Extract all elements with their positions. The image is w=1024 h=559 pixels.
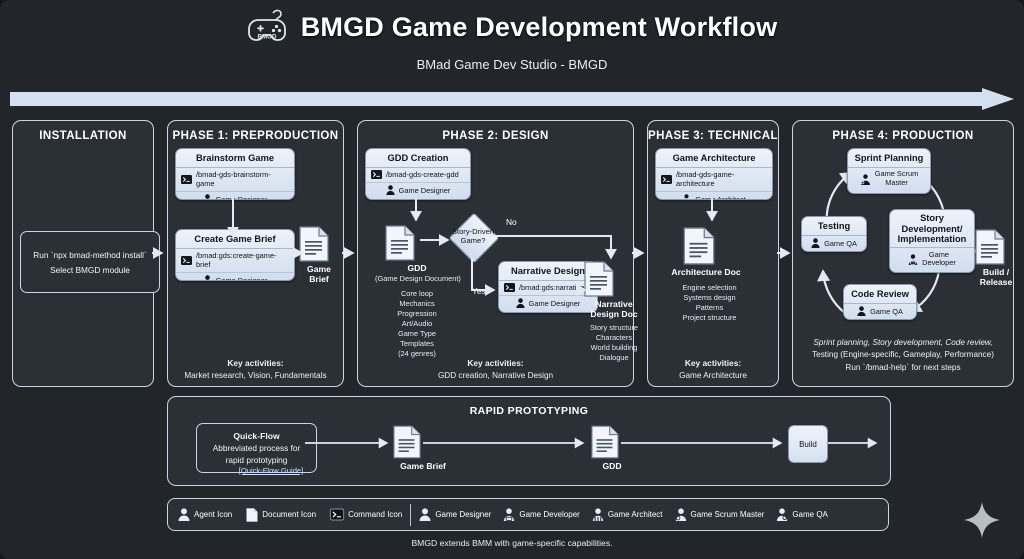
doc-game-brief: Game Brief [299, 226, 339, 285]
legend-divider [410, 504, 411, 526]
quick-flow-title: Quick-Flow [233, 431, 279, 441]
doc-narrative-design: Narrative Design Doc Story structure Cha… [584, 261, 644, 363]
agent-name-line1: Game [929, 250, 949, 259]
agent-icon [203, 275, 212, 281]
rapid-doc-gdd: GDD [591, 425, 633, 471]
card-title: Sprint Planning [848, 149, 930, 168]
command-icon [181, 256, 192, 265]
doc-label-line2: Brief [299, 274, 339, 284]
card-title: Testing [802, 217, 866, 236]
legend-agent-icon-item: Agent Icon [178, 508, 232, 521]
document-icon [584, 261, 644, 297]
agent-name: Game Architect [695, 195, 746, 200]
document-icon [975, 229, 1017, 265]
doc-label: Architecture Doc [669, 267, 743, 277]
game-developer-icon [908, 254, 918, 265]
command-icon [371, 170, 382, 179]
installation-panel: INSTALLATION Run `npx bmad-method instal… [12, 120, 154, 387]
command-text: /bmad:gds:narrative [519, 283, 584, 292]
document-icon [246, 508, 258, 522]
decision-label: Story-Driven Game? [441, 227, 505, 245]
command-icon [181, 175, 192, 184]
game-architect-icon [682, 194, 691, 200]
page-subtitle: BMad Game Dev Studio - BMGD [0, 57, 1024, 72]
phase3-panel: PHASE 3: TECHNICAL Game Architecture /bm… [647, 120, 779, 387]
agent-icon [386, 185, 395, 195]
card-agent-row: Game Scrum Master [848, 168, 930, 191]
rapid-prototyping-title: RAPID PROTOTYPING [168, 405, 890, 417]
game-qa-icon [776, 508, 788, 521]
agent-name-line1: Game Scrum [875, 169, 919, 178]
card-brainstorm-game[interactable]: Brainstorm Game /bmad-gds-brainstorm-gam… [175, 148, 295, 200]
legend-label: Game Developer [519, 510, 579, 519]
agent-name: Game QA [824, 239, 857, 248]
card-title: Story Development/ Implementation [890, 210, 974, 248]
card-agent-row: Game Architect [656, 192, 772, 200]
rapid-doc-game-brief: Game Brief [393, 425, 453, 471]
legend-role-game-designer: Game Designer [419, 508, 491, 521]
key-label: Key activities: [227, 358, 283, 368]
card-title-line3: Implementation [898, 234, 967, 244]
doc-label-line2: Design Doc [584, 309, 644, 319]
diagram-header: BMGD BMGD Game Development Workflow BMad… [0, 0, 1024, 84]
doc-label-line1: Narrative [584, 299, 644, 309]
card-agent-row: Game Developer [890, 248, 974, 271]
card-agent-row: Game QA [844, 304, 916, 319]
game-developer-icon [503, 508, 515, 521]
command-text: /bmad-gds-create-gdd [386, 170, 459, 179]
legend-role-game-qa: Game QA [776, 508, 828, 521]
logo-label: BMGD [257, 34, 276, 41]
legend-label: Game Scrum Master [691, 510, 765, 519]
card-command-row: /bmad-gds-brainstorm-game [176, 168, 294, 192]
workflow-diagram: BMGD BMGD Game Development Workflow BMad… [0, 0, 1024, 559]
card-create-game-brief[interactable]: Create Game Brief /bmad:gds:create-game-… [175, 229, 295, 281]
key-text: GDD creation, Narrative Design [438, 371, 553, 380]
command-icon [661, 175, 672, 184]
legend-label: Document Icon [262, 510, 316, 519]
phase3-title: PHASE 3: TECHNICAL [648, 130, 778, 142]
card-command-row: /bmad:gds:create-game-brief [176, 249, 294, 273]
installation-steps: Run `npx bmad-method install` Select BMG… [20, 231, 160, 293]
document-icon [299, 226, 339, 262]
phase1-panel: PHASE 1: PREPRODUCTION Brainstorm Game /… [167, 120, 344, 387]
game-scrum-master-icon [675, 508, 687, 521]
step-label: Build [799, 440, 817, 449]
card-command-row: /bmad-gds-game-architecture [656, 168, 772, 192]
phase4-summary: Sprint planning, Story development, Code… [793, 337, 1013, 374]
document-icon [683, 227, 743, 265]
gdd-items: Core loop Mechanics Progression Art/Audi… [385, 289, 449, 359]
page-title: BMGD Game Development Workflow [301, 12, 778, 43]
card-title: Narrative Design [499, 262, 597, 281]
command-icon [330, 509, 344, 520]
document-icon [591, 425, 633, 459]
card-agent-row: Game Designer [176, 192, 294, 200]
phase1-title: PHASE 1: PREPRODUCTION [168, 130, 343, 142]
command-text: /bmad:gds:create-game-brief [196, 251, 289, 269]
doc-architecture: Architecture Doc Engine selection System… [683, 227, 743, 323]
key-text: Market research, Vision, Fundamentals [184, 371, 326, 380]
key-label: Key activities: [685, 358, 741, 368]
command-icon [504, 283, 515, 292]
card-agent-row: Game QA [802, 236, 866, 251]
card-narrative-design[interactable]: Narrative Design /bmad:gds:narrative Gam… [498, 261, 598, 313]
rapid-prototyping-panel: RAPID PROTOTYPING Quick-Flow Abbreviated… [167, 396, 891, 486]
legend-label: Game QA [792, 510, 828, 519]
agent-icon [178, 508, 190, 521]
summary-line1: Sprint planning, Story development, Code… [813, 338, 992, 347]
agent-name: Game Designer [216, 195, 268, 200]
game-controller-icon: BMGD [247, 6, 291, 48]
agent-icon [203, 194, 212, 200]
legend-role-game-scrum-master: Game Scrum Master [675, 508, 765, 521]
agent-name: Game Designer [529, 299, 581, 308]
narrative-items: Story structure Characters World buildin… [584, 323, 644, 363]
game-designer-icon [419, 508, 431, 521]
game-qa-icon [811, 238, 820, 248]
command-text: /bmad-gds-game-architecture [676, 170, 767, 188]
install-command: Run `npx bmad-method install` [33, 250, 146, 260]
legend-bar: Agent Icon Document Icon Command Icon Ga… [167, 498, 889, 531]
agent-icon [516, 298, 525, 308]
quick-flow-guide-link[interactable]: [Quick-Flow Guide] [0, 466, 632, 475]
card-agent-row: Game Designer [366, 183, 470, 198]
phase4-title: PHASE 4: PRODUCTION [793, 130, 1013, 142]
doc-label: GDD [385, 263, 449, 273]
agent-name: Game Designer [216, 276, 268, 281]
phase2-key-activities: Key activities: GDD creation, Narrative … [358, 358, 633, 381]
card-title: GDD Creation [366, 149, 470, 168]
doc-sublabel: (Game Design Document) [375, 274, 449, 284]
card-command-row: /bmad-gds-create-gdd [366, 168, 470, 183]
card-agent-row: Game Designer [176, 273, 294, 281]
document-icon [385, 225, 449, 261]
legend-document-icon-item: Document Icon [246, 508, 316, 522]
phase3-key-activities: Key activities: Game Architecture [648, 358, 778, 381]
card-command-row: /bmad:gds:narrative [499, 281, 597, 296]
phase2-title: PHASE 2: DESIGN [358, 130, 633, 142]
phase1-key-activities: Key activities: Market research, Vision,… [168, 358, 343, 381]
step-label: GDD [591, 461, 633, 471]
card-story-development[interactable]: Story Development/ Implementation Game D… [889, 209, 975, 273]
document-icon [393, 425, 453, 459]
legend-role-game-architect: Game Architect [592, 508, 663, 521]
legend-label: Agent Icon [194, 510, 232, 519]
game-architect-icon [592, 508, 604, 521]
installation-title: INSTALLATION [13, 130, 153, 142]
key-text: Game Architecture [679, 371, 747, 380]
quick-flow-line2: rapid prototyping [226, 455, 288, 465]
legend-command-icon-item: Command Icon [330, 509, 402, 520]
game-scrum-master-icon [860, 174, 871, 185]
agent-name-line2: Developer [922, 258, 956, 267]
agent-icon [857, 306, 866, 316]
legend-label: Game Designer [435, 510, 491, 519]
doc-label-line2: Release [975, 277, 1017, 287]
architecture-items: Engine selection Systems design Patterns… [676, 283, 743, 323]
legend-role-game-developer: Game Developer [503, 508, 579, 521]
edge-label-yes: Yes [472, 286, 486, 296]
decision-line2: Game? [441, 236, 505, 245]
card-title: Game Architecture [656, 149, 772, 168]
doc-build-release: Build / Release [975, 229, 1017, 288]
doc-label-line1: Build / [975, 267, 1017, 277]
legend-label: Command Icon [348, 510, 402, 519]
card-game-architecture[interactable]: Game Architecture /bmad-gds-game-archite… [655, 148, 773, 200]
doc-label-line1: Game [299, 264, 339, 274]
card-title: Brainstorm Game [176, 149, 294, 168]
summary-line2: Testing (Engine-specific, Gameplay, Perf… [812, 350, 994, 359]
long-right-arrow-icon [10, 88, 1014, 110]
card-agent-row: Game Designer [499, 296, 597, 311]
card-title-line2: Development/ [902, 224, 963, 234]
doc-gdd: GDD (Game Design Document) Core loop Mec… [385, 225, 449, 359]
sparkle-icon [962, 500, 1002, 540]
card-title: Code Review [844, 285, 916, 304]
card-testing[interactable]: Testing Game QA [801, 216, 867, 252]
card-title-line1: Story [920, 213, 944, 223]
step-label: Game Brief [393, 461, 453, 471]
agent-name-line2: Master [885, 178, 908, 187]
agent-name: Game Designer [399, 186, 451, 195]
phase4-panel: PHASE 4: PRODUCTION Sprint Planning Gam [792, 120, 1014, 387]
card-title: Create Game Brief [176, 230, 294, 249]
card-sprint-planning[interactable]: Sprint Planning Game Scrum Master [847, 148, 931, 194]
phase2-panel: PHASE 2: DESIGN GDD Creation /bmad-gds-c… [357, 120, 634, 387]
command-text: /bmad-gds-brainstorm-game [196, 170, 289, 188]
legend-label: Game Architect [608, 510, 663, 519]
footer-note: BMGD extends BMM with game-specific capa… [0, 538, 1024, 548]
card-gdd-creation[interactable]: GDD Creation /bmad-gds-create-gdd Game D… [365, 148, 471, 200]
card-code-review[interactable]: Code Review Game QA [843, 284, 917, 320]
agent-name: Game QA [870, 307, 903, 316]
quick-flow-line1: Abbreviated process for [213, 443, 301, 453]
install-module: Select BMGD module [50, 265, 130, 275]
decision-line1: Story-Driven [441, 227, 505, 236]
edge-label-no: No [506, 217, 517, 227]
rapid-build-box[interactable]: Build [788, 425, 828, 463]
key-label: Key activities: [467, 358, 523, 368]
summary-line3: Run `/bmad-help` for next steps [845, 363, 960, 372]
